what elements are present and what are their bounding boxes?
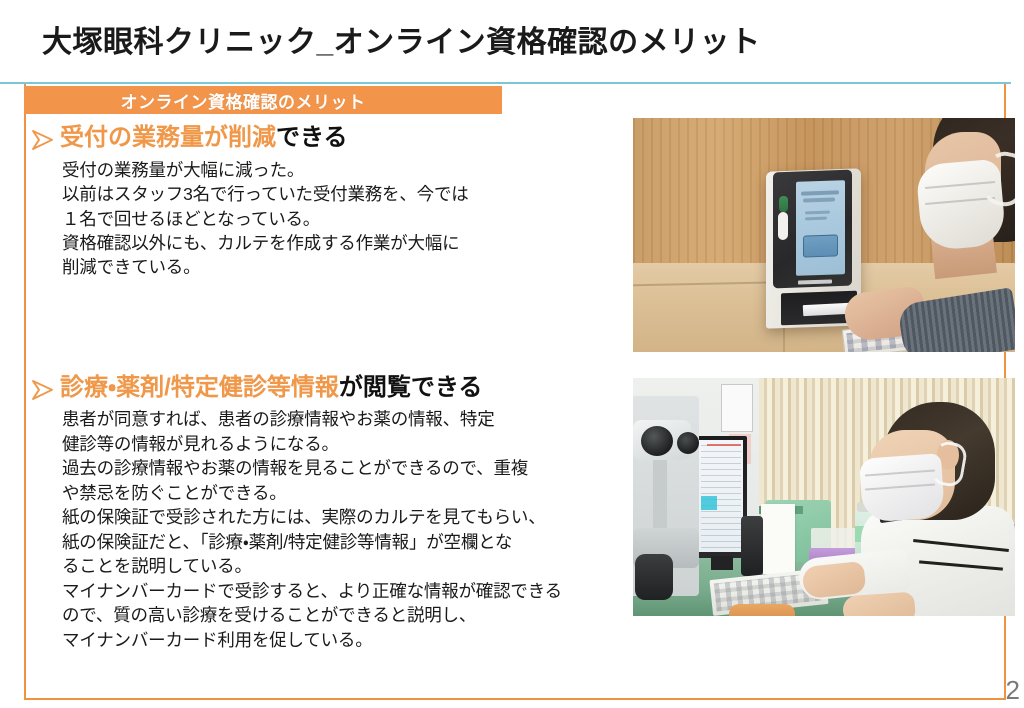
benefit-section-2: 診療・薬剤/特定健診等情報が閲覧できる 患者が同意すれば、患者の診療情報やお薬の… (30, 374, 640, 652)
photo-doctor-at-pc (633, 378, 1015, 616)
photo2-monitor-stand (711, 556, 733, 570)
benefit-body-2: 患者が同意すれば、患者の診療情報やお薬の情報、特定 健診等の情報が見れるようにな… (62, 407, 640, 652)
photo2-screen-accent (707, 444, 741, 446)
arrow-right-outline-icon (30, 127, 56, 153)
photo2-screen-highlight (701, 496, 717, 510)
benefit-heading-1: 受付の業務量が削減できる (30, 124, 630, 153)
benefit-heading-2-rest: が閲覧できる (339, 374, 483, 402)
photo2-slit-lamp-knob (635, 554, 673, 600)
photo2-scope (741, 516, 763, 576)
benefit-heading-2-highlight: 診療・薬剤/特定健診等情報 (60, 374, 339, 402)
section-banner-label: オンライン資格確認のメリット (121, 88, 406, 113)
arrow-right-outline-icon (30, 377, 56, 403)
benefit-heading-2: 診療・薬剤/特定健診等情報が閲覧できる (30, 374, 640, 403)
benefit-section-1: 受付の業務量が削減できる 受付の業務量が大幅に減った。 以前はスタッフ3名で行っ… (30, 124, 630, 280)
photo2-orange-object (729, 604, 795, 616)
benefit-heading-1-highlight: 受付の業務量が削減 (60, 124, 276, 152)
photo2-wall-poster (721, 384, 753, 432)
photo1-screen-button (803, 234, 838, 257)
photo2-slit-lamp-lens-2 (677, 432, 699, 454)
benefit-body-1: 受付の業務量が大幅に減った。 以前はスタッフ3名で行っていた受付業務を、今では … (62, 158, 630, 280)
photo2-white-card (761, 504, 795, 574)
section-banner: オンライン資格確認のメリット (24, 86, 502, 114)
page-number: 2 (1006, 675, 1020, 706)
page-title: 大塚眼科クリニック_オンライン資格確認のメリット (42, 26, 761, 59)
photo2-slit-lamp-lens (641, 426, 673, 456)
slide-root: 大塚眼科クリニック_オンライン資格確認のメリット オンライン資格確認のメリット … (0, 0, 1024, 708)
benefit-heading-1-rest: できる (276, 124, 348, 152)
photo1-card-slot (778, 212, 788, 240)
photo1-green-indicator (779, 196, 788, 212)
photo-card-reader (633, 118, 1015, 352)
photo2-doctor-hand-2 (842, 592, 916, 616)
